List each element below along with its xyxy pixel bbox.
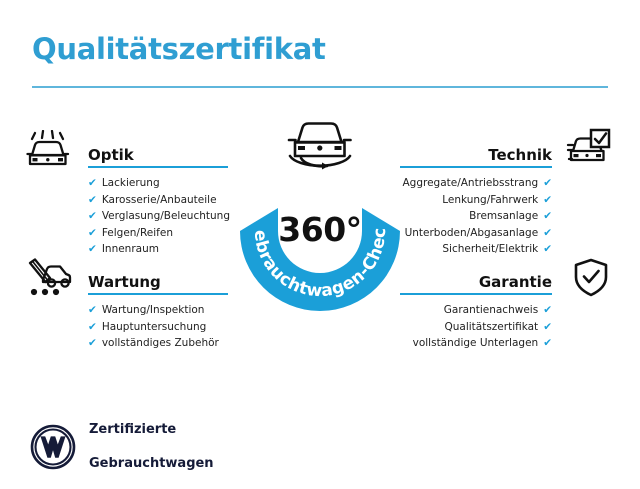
list-item-label: Innenraum	[102, 241, 159, 258]
section-header: Optik	[78, 138, 228, 168]
badge-ring: Gebrauchtwagen-Check	[232, 150, 408, 312]
check-icon: ✔	[88, 192, 97, 209]
list-item-label: Verglasung/Beleuchtung	[102, 208, 230, 225]
check-icon: ✔	[543, 335, 552, 352]
list-item-label: Felgen/Reifen	[102, 225, 173, 242]
section-divider	[400, 293, 552, 295]
list-item-label: Wartung/Inspektion	[102, 302, 205, 319]
checklist-optik: ✔Lackierung ✔Karosserie/Anbauteile ✔Verg…	[78, 175, 228, 258]
list-item-label: Bremsanlage	[469, 208, 538, 225]
check-icon: ✔	[88, 208, 97, 225]
list-item: ✔Hauptuntersuchung	[78, 319, 228, 336]
shield-check-icon	[572, 258, 610, 302]
section-title: Garantie	[479, 273, 552, 291]
check-icon: ✔	[543, 208, 552, 225]
list-item: Bremsanlage✔	[400, 208, 562, 225]
check-icon: ✔	[88, 302, 97, 319]
section-garantie: Garantie Garantienachweis✔ Qualitätszert…	[400, 265, 562, 352]
footer-brand: Zertifizierte Gebrauchtwagen	[30, 404, 214, 489]
footer-line-2: Gebrauchtwagen	[89, 455, 214, 472]
list-item-label: Unterboden/Abgasanlage	[405, 225, 539, 242]
list-item-label: Aggregate/Antriebsstrang	[402, 175, 538, 192]
section-divider	[88, 166, 228, 168]
section-header: Garantie	[400, 265, 562, 295]
check-icon: ✔	[543, 241, 552, 258]
car-checkbox-icon	[566, 128, 612, 174]
checklist-technik: Aggregate/Antriebsstrang✔ Lenkung/Fahrwe…	[400, 175, 562, 258]
car-shine-icon	[26, 130, 72, 174]
check-icon: ✔	[543, 319, 552, 336]
certificate-page: Qualitätszertifikat	[0, 0, 640, 480]
vw-logo-icon	[30, 424, 76, 470]
list-item-label: Lenkung/Fahrwerk	[442, 192, 538, 209]
check-icon: ✔	[88, 175, 97, 192]
section-wartung: Wartung ✔Wartung/Inspektion ✔Hauptunters…	[78, 265, 228, 352]
list-item: ✔Felgen/Reifen	[78, 225, 228, 242]
list-item: Garantienachweis✔	[400, 302, 562, 319]
check-icon: ✔	[543, 175, 552, 192]
page-title: Qualitätszertifikat	[32, 32, 326, 66]
section-divider	[400, 166, 552, 168]
car-service-tool-icon	[26, 258, 72, 304]
list-item: vollständige Unterlagen✔	[400, 335, 562, 352]
section-header: Wartung	[78, 265, 228, 295]
section-optik: Optik ✔Lackierung ✔Karosserie/Anbauteile…	[78, 138, 228, 258]
check-icon: ✔	[88, 335, 97, 352]
check-icon: ✔	[88, 225, 97, 242]
list-item-label: Karosserie/Anbauteile	[102, 192, 217, 209]
list-item: Sicherheit/Elektrik✔	[400, 241, 562, 258]
list-item: ✔Karosserie/Anbauteile	[78, 192, 228, 209]
section-title: Wartung	[88, 273, 161, 291]
list-item: ✔Innenraum	[78, 241, 228, 258]
list-item-label: vollständige Unterlagen	[413, 335, 539, 352]
header-divider	[32, 86, 608, 88]
list-item: ✔Lackierung	[78, 175, 228, 192]
list-item: Aggregate/Antriebsstrang✔	[400, 175, 562, 192]
check-icon: ✔	[543, 302, 552, 319]
check-icon: ✔	[543, 192, 552, 209]
list-item: ✔vollständiges Zubehör	[78, 335, 228, 352]
checklist-wartung: ✔Wartung/Inspektion ✔Hauptuntersuchung ✔…	[78, 302, 228, 352]
list-item-label: vollständiges Zubehör	[102, 335, 219, 352]
section-title: Optik	[88, 146, 134, 164]
list-item: ✔Verglasung/Beleuchtung	[78, 208, 228, 225]
checklist-garantie: Garantienachweis✔ Qualitätszertifikat✔ v…	[400, 302, 562, 352]
badge-360-gebrauchtwagen-check: Gebrauchtwagen-Check 360°	[232, 112, 408, 312]
list-item-label: Garantienachweis	[444, 302, 538, 319]
list-item-label: Lackierung	[102, 175, 160, 192]
list-item-label: Qualitätszertifikat	[444, 319, 538, 336]
section-divider	[88, 293, 228, 295]
footer-text: Zertifizierte Gebrauchtwagen	[89, 404, 214, 489]
list-item-label: Hauptuntersuchung	[102, 319, 207, 336]
list-item-label: Sicherheit/Elektrik	[442, 241, 538, 258]
check-icon: ✔	[88, 319, 97, 336]
section-title: Technik	[488, 146, 552, 164]
check-icon: ✔	[88, 241, 97, 258]
list-item: ✔Wartung/Inspektion	[78, 302, 228, 319]
section-header: Technik	[400, 138, 562, 168]
footer-line-1: Zertifizierte	[89, 421, 214, 438]
list-item: Unterboden/Abgasanlage✔	[400, 225, 562, 242]
list-item: Lenkung/Fahrwerk✔	[400, 192, 562, 209]
section-technik: Technik Aggregate/Antriebsstrang✔ Lenkun…	[400, 138, 562, 258]
check-icon: ✔	[543, 225, 552, 242]
list-item: Qualitätszertifikat✔	[400, 319, 562, 336]
